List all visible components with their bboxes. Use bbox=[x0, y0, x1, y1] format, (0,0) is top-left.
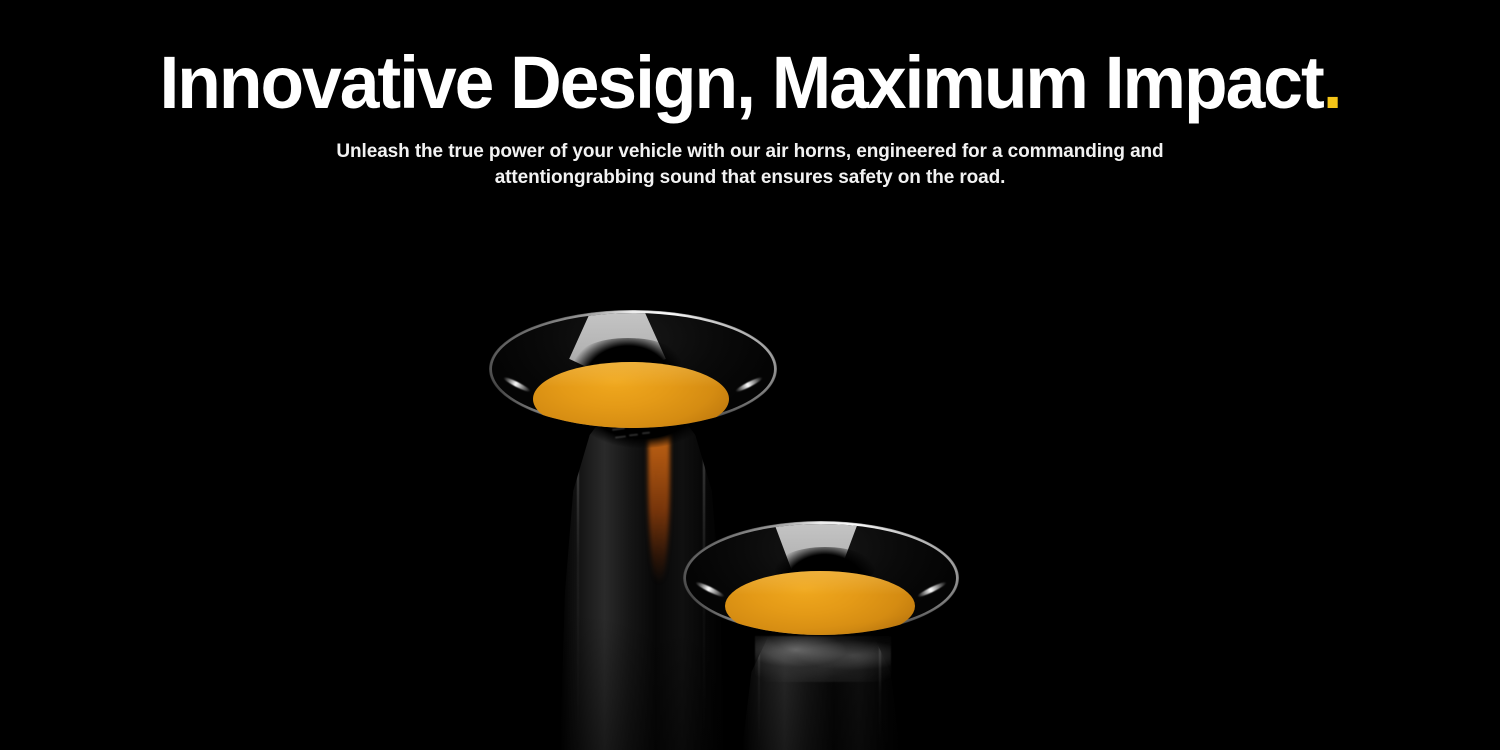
headline-text: Innovative Design, Maximum Impact bbox=[159, 41, 1322, 124]
page-title: Innovative Design, Maximum Impact. bbox=[26, 43, 1474, 123]
hero-subtitle-line-2: attentiongrabbing sound that ensures saf… bbox=[495, 167, 1006, 188]
front-horn-coupling bbox=[755, 636, 891, 682]
headline-accent-dot: . bbox=[1323, 41, 1341, 124]
hero-subtitle: Unleash the true power of your vehicle w… bbox=[300, 139, 1200, 191]
hero-section: Innovative Design, Maximum Impact. Unlea… bbox=[0, 0, 1500, 750]
hero-copy: Innovative Design, Maximum Impact. Unlea… bbox=[0, 0, 1500, 191]
front-horn-amber-interior bbox=[725, 571, 915, 635]
front-horn-bell bbox=[683, 521, 959, 635]
hero-subtitle-line-1: Unleash the true power of your vehicle w… bbox=[336, 141, 1163, 162]
